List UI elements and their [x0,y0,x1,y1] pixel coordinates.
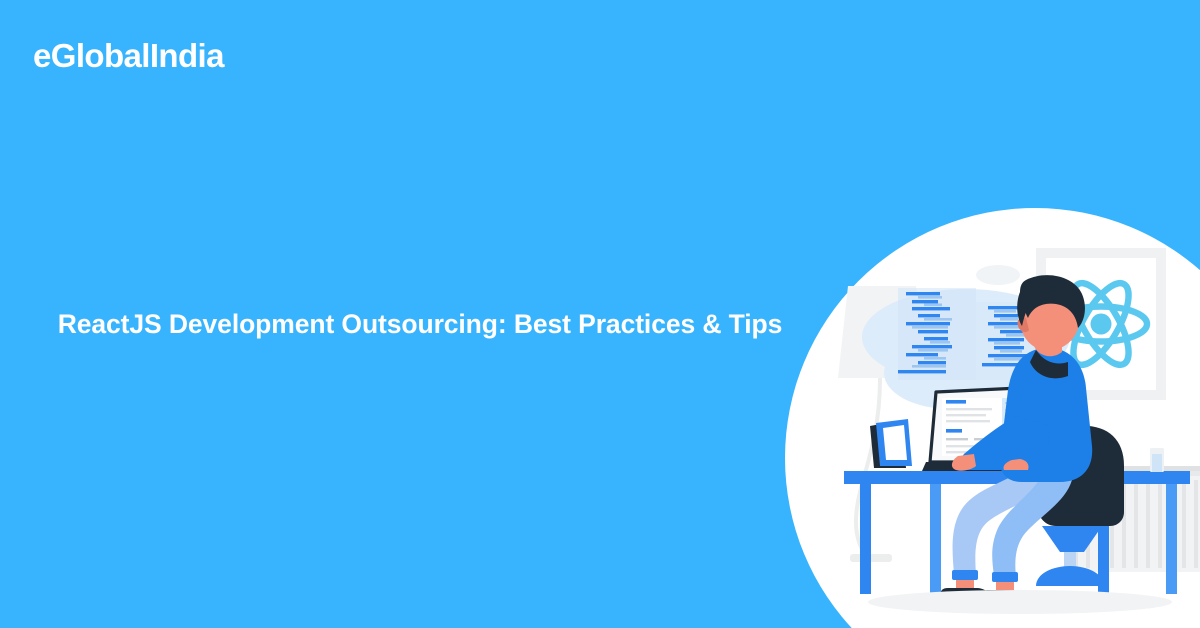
page-title: ReactJS Development Outsourcing: Best Pr… [50,306,790,344]
floor-shadow [868,590,1172,614]
hero-banner: eGlobalIndia ReactJS Development Outsour… [0,0,1200,628]
desk-photo-frame-icon [870,419,912,468]
developer-illustration [830,230,1200,628]
brand-logo[interactable]: eGlobalIndia [33,36,224,76]
water-glass-icon [1150,448,1164,472]
